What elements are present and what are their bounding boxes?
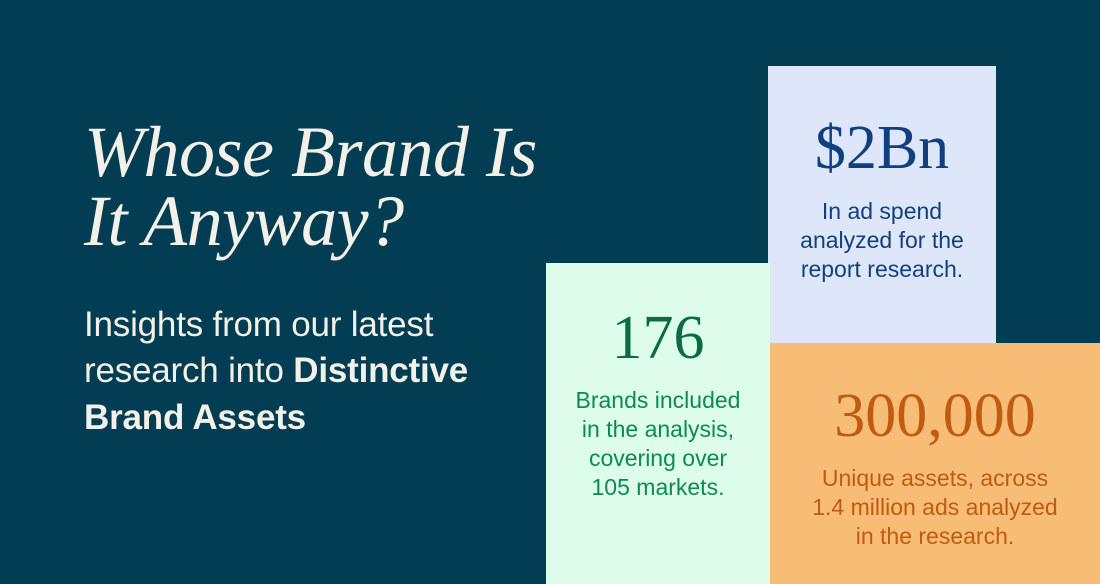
page-title: Whose Brand Is It Anyway? <box>84 118 604 256</box>
hero-subtitle: Insights from our latest research into D… <box>84 256 504 441</box>
stat-card-ad-spend: $2Bn In ad spend analyzed for the report… <box>768 66 996 343</box>
hero-text-block: Whose Brand Is It Anyway? Insights from … <box>84 118 604 441</box>
stat-caption-brands: Brands included in the analysis, coverin… <box>576 369 741 502</box>
stat-caption-assets: Unique assets, across 1.4 million ads an… <box>812 447 1057 552</box>
stat-value-brands: 176 <box>612 307 705 369</box>
promo-banner: Whose Brand Is It Anyway? Insights from … <box>0 0 1100 584</box>
stat-value-ad-spend: $2Bn <box>815 117 949 179</box>
stat-value-assets: 300,000 <box>834 385 1036 447</box>
stat-caption-ad-spend: In ad spend analyzed for the report rese… <box>800 179 964 285</box>
stat-card-assets: 300,000 Unique assets, across 1.4 millio… <box>770 343 1100 584</box>
stat-card-brands: 176 Brands included in the analysis, cov… <box>546 263 770 584</box>
